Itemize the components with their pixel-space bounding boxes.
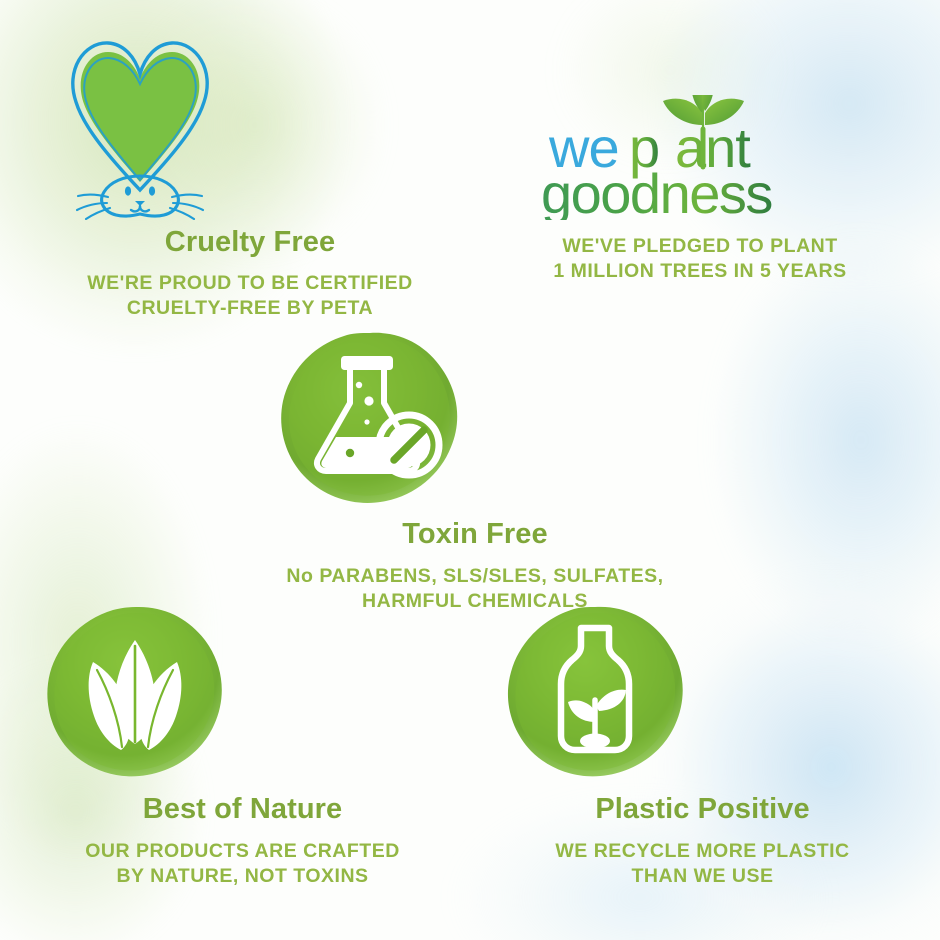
flask-no-entry-icon xyxy=(270,325,680,510)
badge-subtitle-line: THAN WE USE xyxy=(495,864,910,889)
badge-headline: Best of Nature xyxy=(35,793,450,826)
badge-subtitle: WE RECYCLE MORE PLASTIC THAN WE USE xyxy=(495,839,910,890)
we-plant-goodness-logo: we p ant goodness xyxy=(490,95,910,220)
badge-subtitle-line: WE'RE PROUD TO BE CERTIFIED xyxy=(40,271,460,296)
badge-subtitle-line: 1 MILLION TREES IN 5 YEARS xyxy=(490,259,910,284)
bottle-sprout-icon xyxy=(495,600,910,785)
badge-subtitle-line: BY NATURE, NOT TOXINS xyxy=(35,864,450,889)
badge-subtitle: WE'VE PLEDGED TO PLANT 1 MILLION TREES I… xyxy=(490,234,910,285)
badge-we-plant-goodness: we p ant goodness WE'VE PLEDGED TO PLANT… xyxy=(490,95,910,285)
badge-subtitle-line: WE'VE PLEDGED TO PLANT xyxy=(490,234,910,259)
badge-headline: Plastic Positive xyxy=(495,793,910,826)
badge-subtitle: OUR PRODUCTS ARE CRAFTED BY NATURE, NOT … xyxy=(35,839,450,890)
three-leaves-icon xyxy=(35,600,450,785)
badge-subtitle-line: No PARABENS, SLS/SLES, SULFATES, xyxy=(270,564,680,589)
badge-best-of-nature: Best of Nature OUR PRODUCTS ARE CRAFTED … xyxy=(35,600,450,890)
badge-headline: Cruelty Free xyxy=(40,226,460,259)
badge-subtitle: WE'RE PROUD TO BE CERTIFIED CRUELTY-FREE… xyxy=(40,271,460,322)
badge-subtitle-line: OUR PRODUCTS ARE CRAFTED xyxy=(35,839,450,864)
badge-subtitle-line: CRUELTY-FREE BY PETA xyxy=(40,296,460,321)
bunny-heart-icon xyxy=(40,30,460,220)
badge-subtitle-line: WE RECYCLE MORE PLASTIC xyxy=(495,839,910,864)
badge-toxin-free: Toxin Free No PARABENS, SLS/SLES, SULFAT… xyxy=(270,325,680,615)
badge-headline: Toxin Free xyxy=(270,518,680,551)
infographic-canvas: Cruelty Free WE'RE PROUD TO BE CERTIFIED… xyxy=(0,0,940,940)
svg-text:goodness: goodness xyxy=(541,162,772,220)
badge-cruelty-free: Cruelty Free WE'RE PROUD TO BE CERTIFIED… xyxy=(40,30,460,322)
badge-plastic-positive: Plastic Positive WE RECYCLE MORE PLASTIC… xyxy=(495,600,910,890)
